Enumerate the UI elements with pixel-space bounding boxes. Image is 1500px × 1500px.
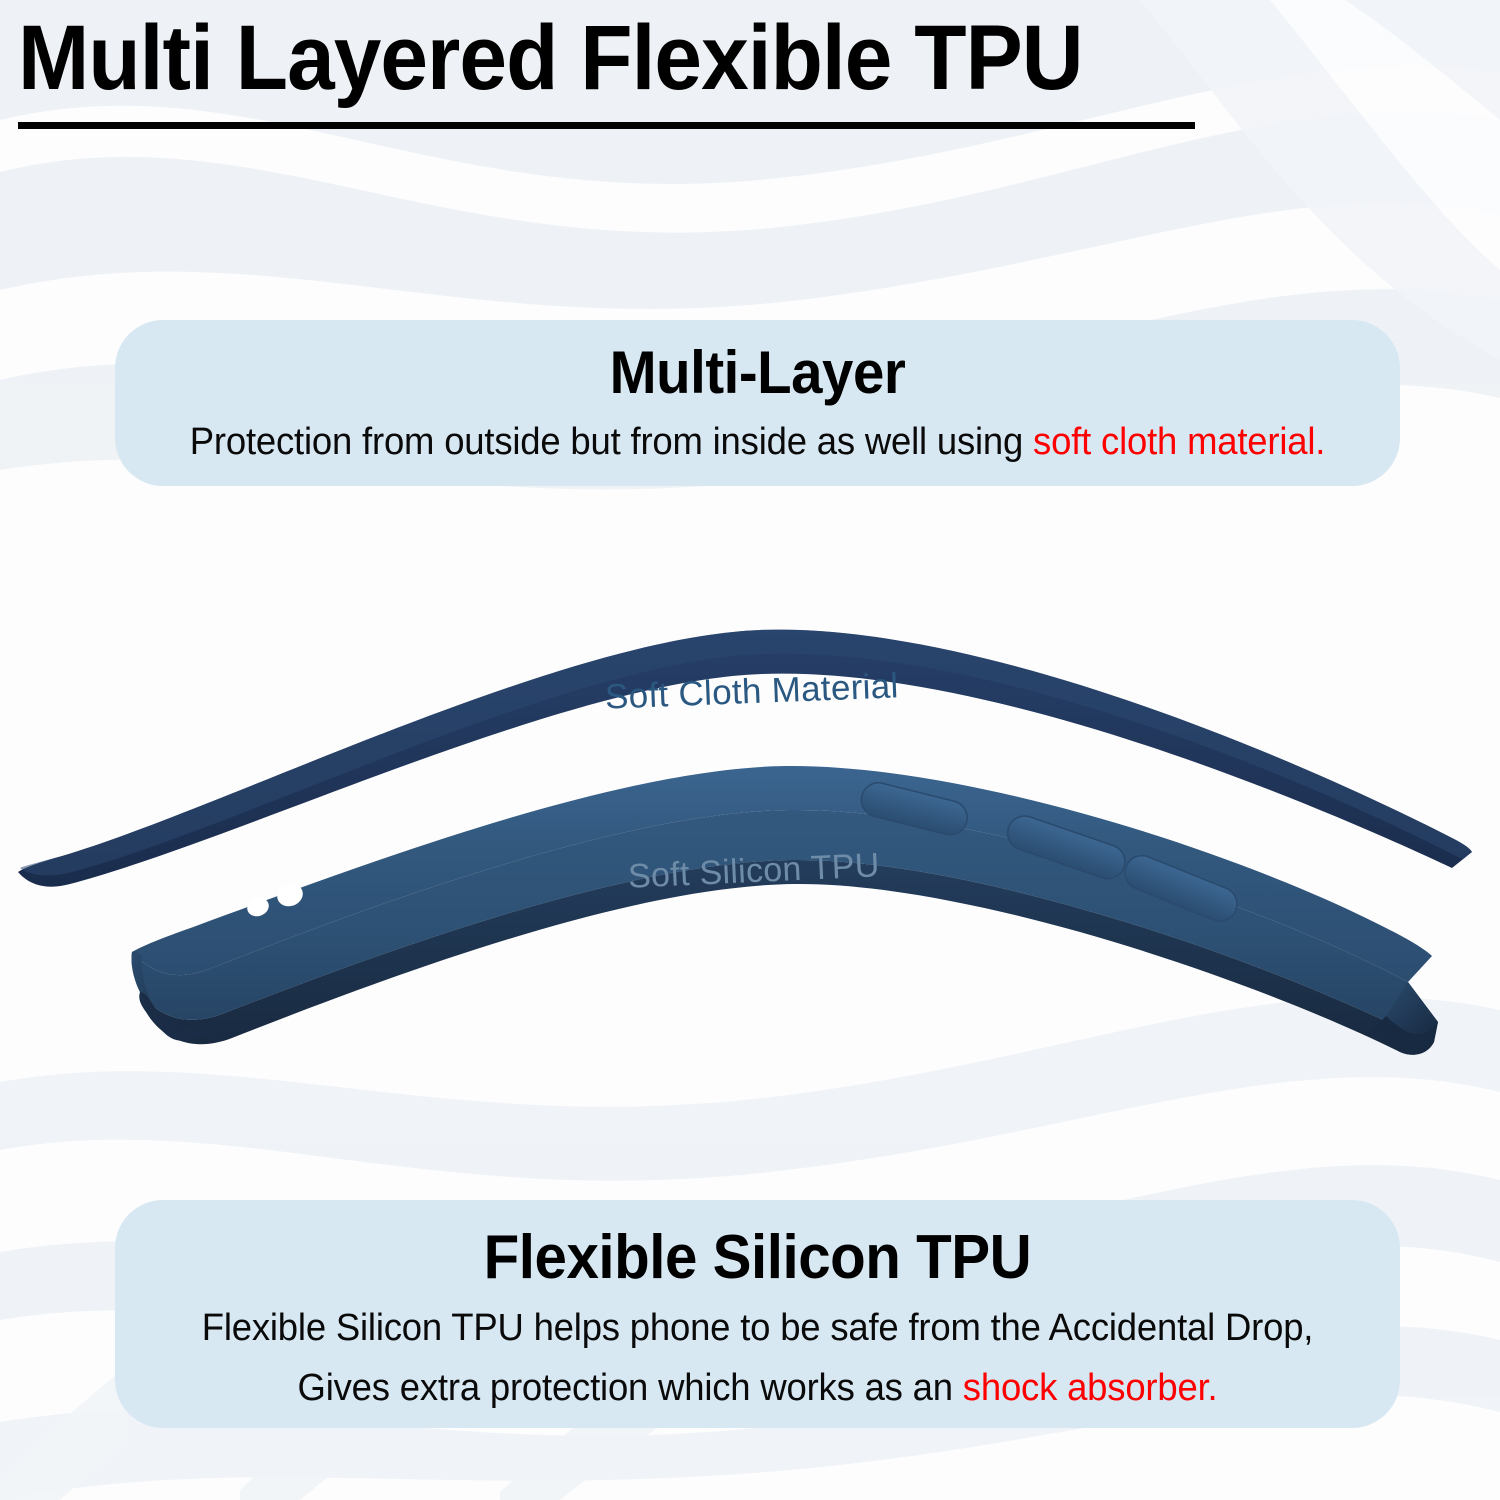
card-body-text-highlight: soft cloth material.: [1033, 421, 1325, 463]
card-body-line-2: Gives extra protection which works as an…: [141, 1364, 1375, 1412]
title-underline-rule: [18, 122, 1195, 129]
card-heading-multi-layer: Multi-Layer: [154, 338, 1362, 408]
feature-card-flexible-tpu: Flexible Silicon TPU Flexible Silicon TP…: [115, 1200, 1400, 1428]
tpu-body-arc: [131, 766, 1438, 1055]
page-title: Multi Layered Flexible TPU: [18, 8, 1083, 108]
card-body-text-plain: Protection from outside but from inside …: [190, 421, 1033, 463]
card-body-text-highlight-2: shock absorber.: [963, 1367, 1218, 1409]
infographic-page: Multi Layered Flexible TPU Multi-Layer P…: [0, 0, 1500, 1500]
card-body-text-plain-2: Gives extra protection which works as an: [298, 1367, 963, 1409]
card-body-line-1: Flexible Silicon TPU helps phone to be s…: [141, 1304, 1375, 1352]
card-body-multi-layer: Protection from outside but from inside …: [141, 418, 1375, 466]
card-heading-flexible-tpu: Flexible Silicon TPU: [154, 1220, 1362, 1296]
phone-case-cross-section-illustration: [0, 580, 1500, 1080]
feature-card-multi-layer: Multi-Layer Protection from outside but …: [115, 320, 1400, 486]
